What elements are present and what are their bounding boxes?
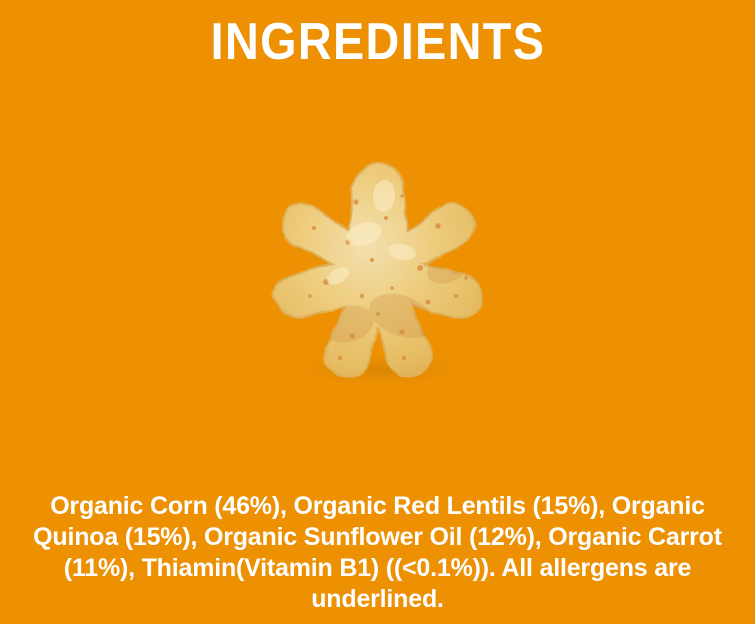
- snack-speckles: [252, 156, 504, 388]
- product-image-area: [0, 122, 755, 422]
- star-shaped-snack-puff-icon: [252, 156, 504, 388]
- snack-shadow: [288, 354, 472, 386]
- ingredients-panel: INGREDIENTS: [0, 0, 755, 624]
- page-title: INGREDIENTS: [210, 14, 545, 70]
- ingredients-statement: Organic Corn (46%), Organic Red Lentils …: [28, 491, 728, 615]
- snack-image-wrapper: [252, 156, 504, 388]
